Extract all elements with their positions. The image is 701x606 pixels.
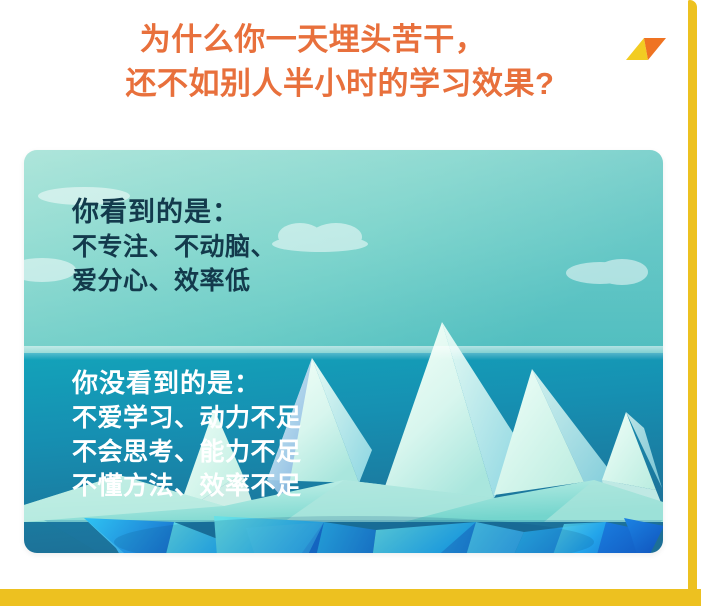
hidden-heading: 你没看到的是： [72,365,302,401]
visible-item-2: 爱分心、效率低 [72,264,276,298]
poster-page: 为什么你一天埋头苦干， 还不如别人半小时的学习效果? [0,0,701,606]
frame-rail-bottom [0,589,701,606]
iceberg-illustration-card: 你看到的是： 不专注、不动脑、 爱分心、效率低 你没看到的是： 不爱学习、动力不… [24,150,663,553]
headline-line-1-text: 为什么你一天埋头苦干， [140,22,487,57]
headline-line-1: 为什么你一天埋头苦干， [0,18,680,62]
page-title: 为什么你一天埋头苦干， 还不如别人半小时的学习效果? [0,18,680,106]
hidden-item-1: 不爱学习、动力不足 [72,401,302,435]
visible-item-1: 不专注、不动脑、 [72,230,276,264]
headline-line-2: 还不如别人半小时的学习效果? [0,62,680,106]
hidden-item-2: 不会思考、能力不足 [72,435,302,469]
visible-text-block: 你看到的是： 不专注、不动脑、 爱分心、效率低 [72,194,276,298]
hidden-item-3: 不懂方法、效率不足 [72,469,302,503]
frame-rail-right [688,0,697,598]
sparkle-wedge-icon [624,29,668,55]
hidden-text-block: 你没看到的是： 不爱学习、动力不足 不会思考、能力不足 不懂方法、效率不足 [72,365,302,503]
visible-heading: 你看到的是： [72,194,276,230]
